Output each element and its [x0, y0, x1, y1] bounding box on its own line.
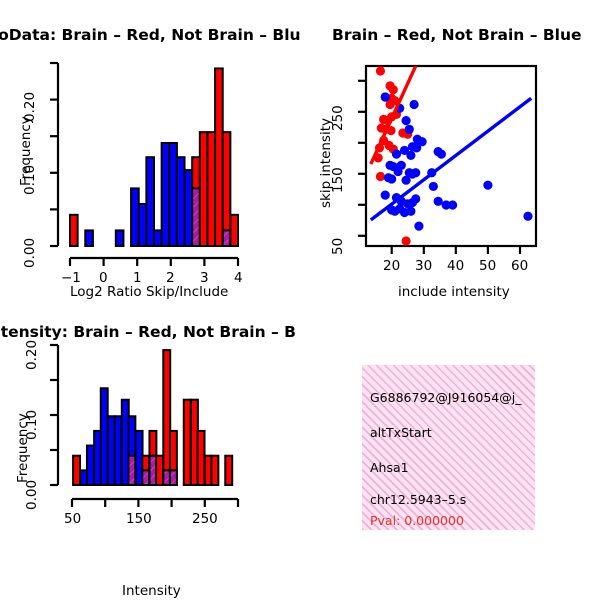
scatter-xtick-40: 40 [447, 258, 464, 274]
panel-intensity-histogram: ne Itensity: Brain – Red, Not Brain – B … [0, 315, 300, 600]
scatter-title: Brain – Red, Not Brain – Blue [332, 26, 582, 44]
ratio-xtick-0: 0 [99, 270, 108, 286]
info-line-gene-symbol: Ahsa1 [370, 460, 409, 475]
intensity-xtick-150: 150 [126, 511, 152, 527]
intensity-histogram-yaxis [50, 345, 58, 485]
info-line-id: G6886792@J916054@j_ [370, 390, 521, 405]
intensity-xtick-50: 50 [64, 511, 81, 527]
info-line-pval: Pval: 0.000000 [370, 513, 464, 528]
scatter-xlabel: include intensity [398, 284, 510, 300]
ratio-ytick-10: 0.10 [22, 165, 38, 195]
ratio-xtick-3: 3 [200, 270, 209, 286]
intensity-ytick-20: 0.20 [24, 340, 40, 370]
ratio-ytick-0: 0.00 [22, 238, 38, 268]
intensity-histogram-title: ne Itensity: Brain – Red, Not Brain – B [0, 323, 296, 341]
scatter-ytick-150: 150 [330, 167, 346, 193]
intensity-ytick-10: 0.10 [24, 410, 40, 440]
scatter-xaxis [392, 246, 520, 254]
scatter-xtick-60: 60 [511, 258, 528, 274]
intensity-ytick-0: 0.00 [24, 480, 40, 510]
ratio-histogram-yaxis [50, 63, 58, 246]
intensity-xtick-250: 250 [192, 511, 218, 527]
scatter-xtick-50: 50 [479, 258, 496, 274]
ratio-histogram-canvas [0, 18, 300, 278]
intensity-histogram-xaxis [72, 499, 238, 507]
intensity-histogram-xlabel: Intensity [122, 583, 181, 599]
info-line-locus: chr12.5943–5.s [370, 492, 466, 507]
scatter-xtick-20: 20 [383, 258, 400, 274]
ratio-histogram-xaxis [70, 258, 238, 266]
scatter-yaxis [358, 81, 366, 236]
info-line-event-type: altTxStart [370, 425, 432, 440]
scatter-xtick-30: 30 [415, 258, 432, 274]
ratio-histogram-bars [70, 68, 238, 246]
panel-ratio-histogram: RatioData: Brain – Red, Not Brain – Blu … [0, 18, 300, 318]
ratio-xtick--1: −1 [61, 270, 81, 286]
panel-intensity-scatter: Brain – Red, Not Brain – Blue skip inten… [300, 18, 600, 318]
ratio-ytick-20: 0.20 [22, 92, 38, 122]
scatter-ytick-50: 50 [330, 238, 346, 255]
scatter-ylabel: skip intensity [318, 118, 334, 208]
scatter-ytick-250: 250 [330, 105, 346, 131]
ratio-xtick-1: 1 [133, 270, 142, 286]
gene-info-panel: G6886792@J916054@j_ altTxStart Ahsa1 chr… [362, 365, 535, 530]
ratio-histogram-title: RatioData: Brain – Red, Not Brain – Blu [0, 26, 301, 44]
ratio-xtick-4: 4 [234, 270, 243, 286]
ratio-histogram-xlabel: Log2 Ratio Skip/Include [70, 284, 228, 300]
intensity-histogram-canvas [0, 315, 300, 570]
intensity-histogram-bars [73, 350, 232, 485]
ratio-xtick-2: 2 [166, 270, 175, 286]
